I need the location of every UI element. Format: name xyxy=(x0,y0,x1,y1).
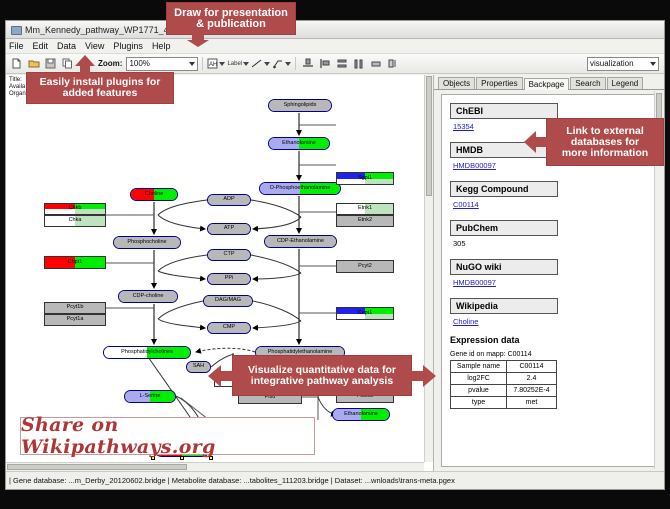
gene-pcyt2[interactable]: Pcyt2 xyxy=(336,260,394,273)
callout-visualize-data: Visualize quantitative data forintegrati… xyxy=(232,355,412,396)
metabolite-adp[interactable]: ADP xyxy=(207,194,251,206)
node-label: Pcyt1a xyxy=(67,317,84,323)
node-label: PPi xyxy=(225,276,234,282)
menu-item-edit[interactable]: Edit xyxy=(33,41,49,51)
open-folder-icon[interactable] xyxy=(26,56,41,71)
backpage-link-wikipedia[interactable]: Choline xyxy=(453,317,651,326)
gene-chpt1[interactable]: Chpt1 xyxy=(44,256,106,269)
metabolite-cdp-choline[interactable]: CDP-choline xyxy=(118,290,178,303)
gene-chka[interactable]: Chka xyxy=(44,215,106,227)
share-banner: Share on Wikipathways.org xyxy=(20,417,315,455)
share-banner-text: Share on Wikipathways.org xyxy=(21,414,314,458)
callout-arrow-left-icon xyxy=(524,130,548,154)
metabolite-cmp[interactable]: CMP xyxy=(207,322,251,334)
node-label: Choline xyxy=(145,192,164,198)
backpage-header-nugo-wiki: NuGO wiki xyxy=(450,259,558,275)
status-bar: | Gene database: ...m_Derby_20120602.bri… xyxy=(6,471,664,489)
metabolite-ppi[interactable]: PPi xyxy=(207,273,251,285)
table-row: log2FC2.4 xyxy=(451,373,557,385)
node-label: Pcyt1b xyxy=(67,305,84,311)
callout-install-plugins: Easily install plugins foradded features xyxy=(26,72,174,104)
table-row: Sample nameC00114 xyxy=(451,361,557,373)
tab-legend[interactable]: Legend xyxy=(607,77,644,89)
label-tool-text: Label xyxy=(227,61,242,67)
gene-pcyt1b[interactable]: Pcyt1b xyxy=(44,302,106,314)
node-label: SAH xyxy=(193,364,204,370)
menu-item-data[interactable]: Data xyxy=(57,41,76,51)
screenshot-root: Mm_Kennedy_pathway_WP1771_45176.gpml Fil… xyxy=(0,0,670,509)
line-tool-icon[interactable] xyxy=(251,58,270,69)
node-label: ADP xyxy=(223,197,234,203)
backpage-header-kegg-compound: Kegg Compound xyxy=(450,181,558,197)
table-cell-value: 2.4 xyxy=(507,373,557,385)
table-row: typemet xyxy=(451,397,557,409)
table-cell-value: 7.80252E-4 xyxy=(507,385,557,397)
status-text: | Gene database: ...m_Derby_20120602.bri… xyxy=(9,476,455,485)
node-label: CTP xyxy=(224,252,235,258)
side-panel-tabs: ObjectsPropertiesBackpageSearchLegend xyxy=(434,75,664,90)
visualization-combobox[interactable]: visualization xyxy=(587,57,659,71)
pathway-canvas[interactable]: Title: Availa Organi xyxy=(6,75,434,471)
callout-arrow-up-icon xyxy=(74,55,96,75)
menu-item-help[interactable]: Help xyxy=(152,41,171,51)
callout-draw-for-publication: Draw for presentation& publication xyxy=(166,2,296,35)
table-cell-key: pvalue xyxy=(451,385,507,397)
copy-icon[interactable] xyxy=(60,56,75,71)
gene-pcyt1a[interactable]: Pcyt1a xyxy=(44,314,106,326)
text-tool-icon[interactable]: AH xyxy=(207,58,225,69)
tab-objects[interactable]: Objects xyxy=(438,77,475,89)
app-window-icon xyxy=(10,24,21,35)
gene-sgpl1[interactable]: Sgpl1 xyxy=(336,172,394,185)
visualization-value: visualization xyxy=(590,59,634,68)
tab-backpage[interactable]: Backpage xyxy=(524,78,570,90)
backpage-link-nugo-wiki[interactable]: HMDB00097 xyxy=(453,278,651,287)
gene-etnk1[interactable]: Etnk1 xyxy=(336,203,394,215)
metabolite-ethanolamine-right[interactable]: Ethanolamine xyxy=(332,408,390,421)
menu-item-plugins[interactable]: Plugins xyxy=(113,41,143,51)
table-cell-key: type xyxy=(451,397,507,409)
backpage-header-wikipedia: Wikipedia xyxy=(450,298,558,314)
align-bottom-icon[interactable] xyxy=(300,56,315,71)
callout-external-links: Link to externaldatabases formore inform… xyxy=(546,118,664,166)
node-label: Chpt1 xyxy=(68,260,83,266)
callout-arrow-right-icon xyxy=(410,364,436,388)
node-label: Pcyt2 xyxy=(358,264,372,270)
table-cell-key: log2FC xyxy=(451,373,507,385)
metabolite-phosphocholine[interactable]: Phosphocholine xyxy=(113,236,181,249)
tab-properties[interactable]: Properties xyxy=(476,77,522,89)
metabolite-cdp-ethanolamine[interactable]: CDP-Ethanolamine xyxy=(264,235,337,248)
title-bar: Mm_Kennedy_pathway_WP1771_45176.gpml xyxy=(6,21,664,39)
zoom-label: Zoom: xyxy=(98,59,122,68)
table-cell-value: met xyxy=(507,397,557,409)
chevron-down-icon[interactable] xyxy=(219,62,225,66)
metabolite-sphingolipids[interactable]: Sphingolipids xyxy=(268,99,332,112)
node-label: O-Phosphoethanolamine xyxy=(270,186,331,192)
distribute-vertical-icon[interactable] xyxy=(334,56,349,71)
node-label: CDP-Ethanolamine xyxy=(277,239,324,245)
chevron-down-icon[interactable] xyxy=(243,62,249,66)
menu-item-view[interactable]: View xyxy=(85,41,104,51)
node-label: Etnk2 xyxy=(358,218,372,224)
metabolite-choline-top[interactable]: Choline xyxy=(130,188,178,201)
backpage-link-kegg-compound[interactable]: C00114 xyxy=(453,200,651,209)
metabolite-atp[interactable]: ATP xyxy=(207,223,251,235)
tab-search[interactable]: Search xyxy=(570,77,605,89)
expression-data-title: Expression data xyxy=(450,335,651,345)
node-label: Chka xyxy=(69,218,82,224)
new-file-icon[interactable] xyxy=(9,56,24,71)
metabolite-o-phosphoethanolamine[interactable]: O-Phosphoethanolamine xyxy=(259,182,341,195)
node-label: Cept1 xyxy=(358,311,373,317)
metabolite-l-serine-left[interactable]: L-Serine xyxy=(124,390,176,403)
metabolite-ethanolamine-top[interactable]: Ethanolamine xyxy=(268,137,330,150)
node-label: L-Serine xyxy=(140,394,161,400)
stack-center-icon[interactable] xyxy=(368,56,383,71)
chevron-down-icon[interactable] xyxy=(285,62,291,66)
node-label: DAG/MAG xyxy=(215,298,241,304)
metabolite-phosphatidylcholines[interactable]: Phosphatidylcholines xyxy=(103,346,191,359)
backpage-value-pubchem: 305 xyxy=(453,239,651,248)
node-label: Sphingolipids xyxy=(284,103,317,109)
callout-arrow-left-icon xyxy=(208,364,234,388)
node-label: Ethanolamine xyxy=(344,412,378,418)
menu-bar: File Edit Data View Plugins Help xyxy=(6,39,664,54)
canvas-scrollbar-horizontal[interactable] xyxy=(6,462,424,471)
group-icon[interactable] xyxy=(385,56,400,71)
gene-cept1[interactable]: Cept1 xyxy=(336,307,394,320)
node-label: CDP-choline xyxy=(133,294,164,300)
node-label: Etnk1 xyxy=(358,206,372,212)
backpage-header-pubchem: PubChem xyxy=(450,220,558,236)
canvas-scrollbar-vertical[interactable] xyxy=(424,75,433,462)
anchor-tool-icon[interactable] xyxy=(272,58,291,69)
chevron-down-icon[interactable] xyxy=(264,62,270,66)
node-label: Phosphocholine xyxy=(127,240,166,246)
distribute-horizontal-icon[interactable] xyxy=(351,56,366,71)
metabolite-ctp[interactable]: CTP xyxy=(207,249,251,261)
chevron-down-icon xyxy=(189,62,195,66)
toolbar-separator xyxy=(202,57,203,70)
table-cell-key: Sample name xyxy=(451,361,507,373)
node-label: Ethanolamine xyxy=(282,141,316,147)
node-label: Phosphatidylcholines xyxy=(121,350,173,356)
table-row: pvalue7.80252E-4 xyxy=(451,385,557,397)
table-cell-value: C00114 xyxy=(507,361,557,373)
toolbar-separator xyxy=(295,57,296,70)
save-icon[interactable] xyxy=(43,56,58,71)
callout-arrow-down-icon xyxy=(186,34,210,48)
node-label: Sgpl1 xyxy=(358,176,372,182)
zoom-combobox[interactable]: 100% xyxy=(126,57,198,71)
align-left-icon[interactable] xyxy=(317,56,332,71)
metabolite-dag-mag[interactable]: DAG/MAG xyxy=(203,295,253,307)
node-label: CMP xyxy=(223,325,235,331)
expression-data-table: Sample nameC00114log2FC2.4pvalue7.80252E… xyxy=(450,360,557,409)
svg-text:AH: AH xyxy=(209,62,217,68)
gene-id-line: Gene id on mapp: C00114 xyxy=(450,351,651,358)
chevron-down-icon xyxy=(650,62,656,66)
scroll-thumb[interactable] xyxy=(7,464,187,470)
node-label: Chkb xyxy=(69,206,82,212)
menu-item-file[interactable]: File xyxy=(9,41,24,51)
label-tool-icon[interactable]: Label xyxy=(227,61,249,67)
tool-bar: Zoom: 100% AH Label xyxy=(6,54,664,74)
zoom-value: 100% xyxy=(129,59,149,68)
backpage-header-chebi: ChEBI xyxy=(450,103,558,119)
scroll-thumb[interactable] xyxy=(426,76,432,196)
gene-chkb[interactable]: Chkb xyxy=(44,203,106,215)
gene-etnk2[interactable]: Etnk2 xyxy=(336,215,394,227)
node-label: ATP xyxy=(224,226,234,232)
